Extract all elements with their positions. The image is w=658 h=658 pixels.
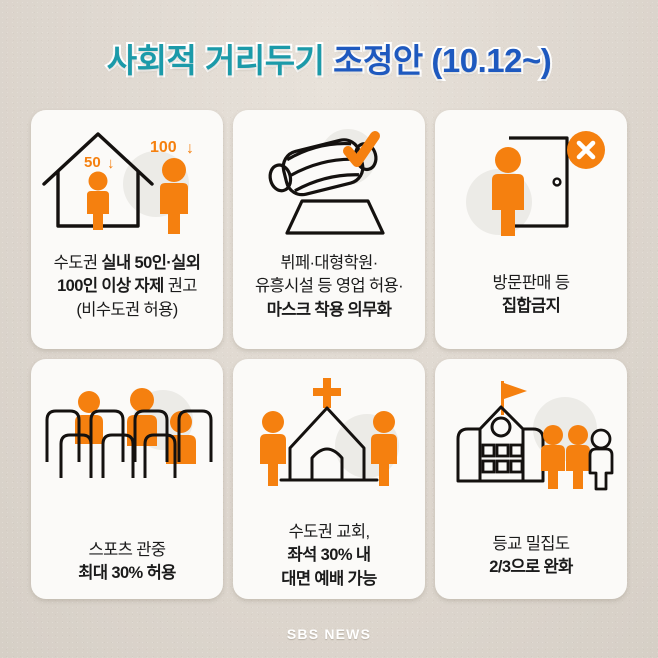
caption-text: 실내 50인·실외 — [101, 254, 200, 272]
caption-text: 유흥시설 등 영업 허용· — [239, 275, 419, 298]
caption-text: (비수도권 허용) — [76, 301, 177, 319]
card-sports-spectators[interactable]: 스포츠 관중 최대 30% 허용 — [31, 359, 223, 599]
card-caption: 뷔페·대형학원· 유흥시설 등 영업 허용· 마스크 착용 의무화 — [233, 252, 425, 322]
caption-text: 수도권 교회, — [239, 521, 419, 544]
mask-on-table-icon — [233, 116, 425, 248]
card-caption: 등교 밀집도 2/3으로 완화 — [435, 533, 627, 580]
caption-text: 뷔페·대형학원· — [239, 252, 419, 275]
card-caption: 방문판매 등 집합금지 — [435, 272, 627, 319]
card-caption: 수도권 실내 50인·실외 100인 이상 자제 권고 (비수도권 허용) — [31, 252, 223, 322]
card-metropolitan-gathering-limit[interactable]: 50 ↓ 100 ↓ 수도권 실내 50인·실외 100인 이상 자제 권고 (… — [31, 110, 223, 349]
infographic-page: 사회적 거리두기 조정안 (10.12~) 50 ↓ — [0, 0, 658, 658]
x-mark-icon — [567, 131, 605, 169]
card-grid: 50 ↓ 100 ↓ 수도권 실내 50인·실외 100인 이상 자제 권고 (… — [31, 110, 628, 599]
badge-100: 100 — [150, 139, 177, 156]
school-icon — [435, 371, 627, 497]
caption-text: 등교 밀집도 — [441, 533, 621, 556]
caption-text: 대면 예배 가능 — [239, 568, 419, 591]
caption-text: 권고 — [168, 277, 197, 295]
caption-text: 방문판매 등 — [441, 272, 621, 295]
card-school-density[interactable]: 등교 밀집도 2/3으로 완화 — [435, 359, 627, 599]
card-door-to-door-sales-ban[interactable]: 방문판매 등 집합금지 — [435, 110, 627, 349]
svg-text:↓: ↓ — [186, 140, 194, 157]
caption-text: 100인 이상 자제 — [57, 277, 168, 295]
card-caption: 스포츠 관중 최대 30% 허용 — [31, 539, 223, 586]
card-caption: 수도권 교회, 좌석 30% 내 대면 예배 가능 — [233, 521, 425, 591]
page-title: 사회적 거리두기 조정안 (10.12~) — [0, 34, 658, 82]
caption-text: 2/3으로 완화 — [441, 556, 621, 579]
caption-text: 집합금지 — [441, 295, 621, 318]
house-with-people-icon: 50 ↓ 100 ↓ — [31, 116, 223, 248]
card-church-worship[interactable]: 수도권 교회, 좌석 30% 내 대면 예배 가능 — [233, 359, 425, 599]
church-icon — [233, 371, 425, 497]
badge-50: 50 — [84, 154, 101, 171]
footer-brand: SBS NEWS — [0, 626, 658, 642]
caption-text: 좌석 30% 내 — [239, 544, 419, 567]
page-title-part2: 조정안 (10.12~) — [333, 42, 551, 79]
caption-text: 마스크 착용 의무화 — [239, 299, 419, 322]
caption-text: 수도권 — [54, 254, 102, 272]
cross-icon — [313, 378, 341, 408]
card-business-reopening-mask[interactable]: 뷔페·대형학원· 유흥시설 등 영업 허용· 마스크 착용 의무화 — [233, 110, 425, 349]
caption-text: 스포츠 관중 — [37, 539, 217, 562]
stadium-seats-icon — [31, 371, 223, 497]
page-title-part1: 사회적 거리두기 — [107, 42, 325, 79]
svg-text:↓: ↓ — [107, 155, 115, 172]
person-at-door-icon — [435, 116, 627, 248]
caption-text: 최대 30% 허용 — [37, 562, 217, 585]
